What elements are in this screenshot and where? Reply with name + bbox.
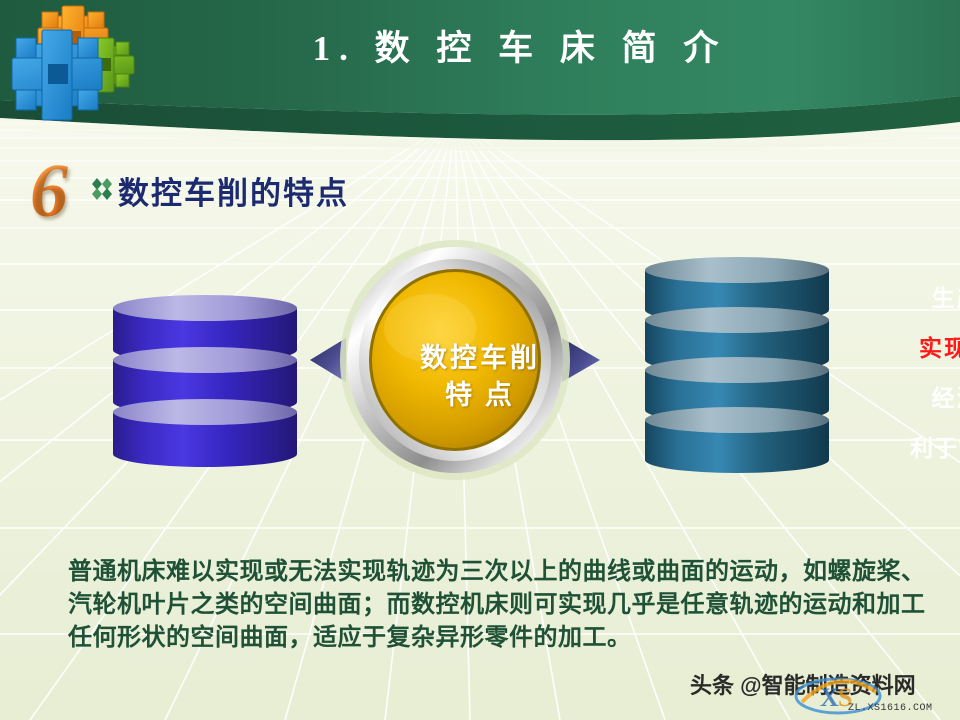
right-cylinder-stack — [645, 257, 829, 473]
left-cylinder-stack — [113, 295, 297, 467]
gear-cluster-icon — [8, 4, 188, 154]
section-numeral: 6 — [14, 152, 84, 230]
slide-canvas: 1. 数 控 车 床 简 介 — [0, 0, 960, 720]
cylinder-right-4 — [645, 407, 829, 473]
svg-text:X: X — [820, 683, 839, 712]
paragraph-line-1: 普通机床难以实现或无法实现轨迹为三次以上的曲线或曲面的运动，如螺旋桨、 — [68, 556, 898, 589]
body-paragraph: 普通机床难以实现或无法实现轨迹为三次以上的曲线或曲面的运动，如螺旋桨、 汽轮机叶… — [68, 556, 898, 655]
section-heading: 数控车削的特点 — [118, 168, 349, 213]
watermark-url: ZL.XS1616.COM — [848, 703, 933, 714]
center-oval-text: 数控车削 特 点 — [380, 340, 580, 414]
diamond-cluster-icon — [89, 176, 115, 202]
paragraph-line-3: 任何形状的空间曲面，适应于复杂异形零件的加工。 — [68, 622, 898, 655]
center-line-2: 特 点 — [380, 377, 580, 414]
paragraph-line-2: 汽轮机叶片之类的空间曲面；而数控机床则可实现几乎是任意轨迹的运动和加工 — [68, 589, 898, 622]
cylinder-left-3 — [113, 399, 297, 467]
center-line-1: 数控车削 — [380, 340, 580, 377]
slide-header: 1. 数 控 车 床 简 介 — [0, 0, 960, 190]
